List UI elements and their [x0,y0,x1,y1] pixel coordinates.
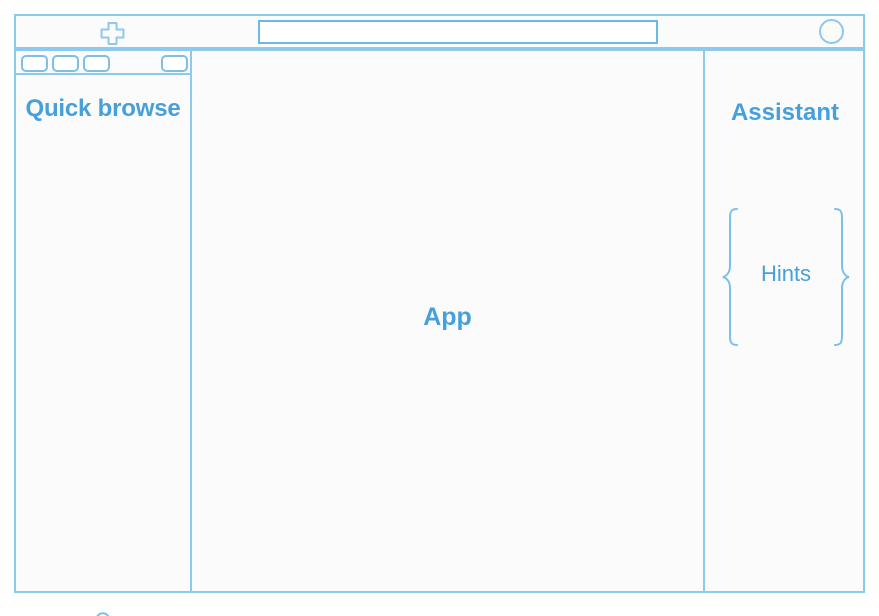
circle-avatar-icon[interactable] [819,19,844,44]
assistant-panel: Assistant Hints [705,51,865,591]
sidebar-divider [190,49,192,593]
toolbar-chip-3[interactable] [83,55,110,72]
plus-icon[interactable] [99,21,126,46]
app-label: App [192,303,703,332]
assistant-title: Assistant [705,99,865,127]
toolbar-chip-4[interactable] [161,55,188,72]
right-brace-icon [831,207,851,347]
toolbar-chip-2[interactable] [52,55,79,72]
toolbar-chip-1[interactable] [21,55,48,72]
address-bar[interactable] [258,20,658,44]
wireframe-canvas: Quick browse App Assistant Hints [0,0,879,616]
sidebar-title: Quick browse [16,93,190,125]
undo-uturn-icon[interactable] [91,608,121,616]
sidebar-toolbar [16,51,190,75]
assistant-divider [703,49,705,593]
hints-group: Hints [721,207,851,347]
sidebar-panel: Quick browse [16,51,190,591]
main-app-pane: App [192,51,703,591]
